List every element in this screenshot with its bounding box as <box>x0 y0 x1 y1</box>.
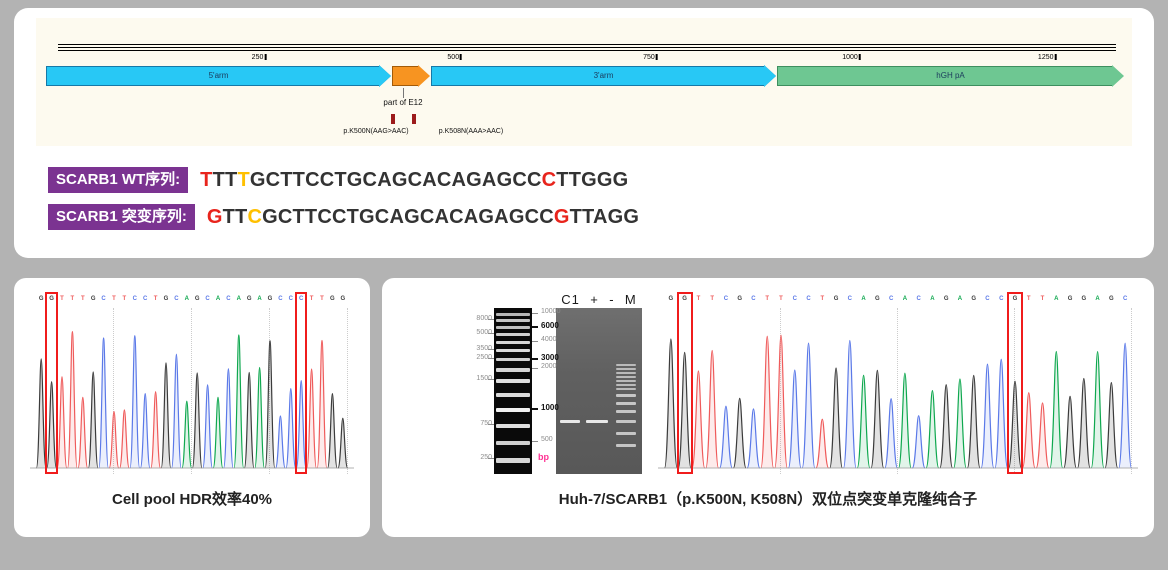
ladder-band <box>496 326 530 329</box>
callout-label-part-of-e12: part of E12 <box>383 98 422 107</box>
dna-ladder-image <box>494 308 532 474</box>
base-call-t: T <box>710 294 714 304</box>
base-call-c: C <box>889 294 893 304</box>
base-call-g: G <box>39 294 44 304</box>
chromatogram-peak-a <box>182 401 192 468</box>
base-call-t: T <box>1041 294 1045 304</box>
sequence-segment: TT <box>213 169 238 191</box>
ladder-tick <box>488 424 494 425</box>
chromatogram-peak-c <box>224 369 234 468</box>
chromatogram-peak-t <box>151 392 161 468</box>
ladder-size-label-right-2000: 2000 <box>541 363 557 370</box>
sequence-ruler: 25050075010001250 <box>58 44 1116 50</box>
chromatogram-traces <box>658 306 1138 472</box>
ladder-tick <box>532 341 538 342</box>
base-call-c: C <box>806 294 810 304</box>
ladder-band <box>496 349 530 353</box>
mutation-marker-k508n <box>412 114 416 124</box>
chromatogram-peak-c <box>203 385 213 468</box>
base-call-c: C <box>916 294 920 304</box>
sequence-text-mutant: GTTCGCTTCCTGCAGCACAGAGCCGTTAGG <box>207 206 639 229</box>
gel-lane-labels: C1+-M <box>556 292 642 307</box>
ruler-tick-label: 250 <box>252 54 264 61</box>
chromatogram-peak-a <box>899 373 912 468</box>
gel-lane-label-minus: - <box>609 292 614 307</box>
chromatogram-peak-t <box>120 410 130 468</box>
base-call-a: A <box>903 294 907 304</box>
base-call-t: T <box>1027 294 1031 304</box>
chromatogram-peak-g <box>665 339 678 468</box>
base-call-t: T <box>71 294 75 304</box>
chromatogram-peak-g <box>1077 378 1090 468</box>
base-call-g: G <box>1068 294 1073 304</box>
chromatogram-peak-g <box>967 375 980 468</box>
ruler-tick-label: 750 <box>643 54 655 61</box>
base-call-c: C <box>101 294 105 304</box>
chromatogram-peak-t <box>78 397 88 468</box>
chromatogram-peak-g <box>940 385 953 468</box>
chromatogram-peak-g <box>1064 396 1077 468</box>
chromatogram-peak-g <box>1105 383 1118 468</box>
ladder-band <box>496 424 530 428</box>
base-call-t: T <box>320 294 324 304</box>
gel-marker-band <box>616 420 636 423</box>
feature-arrow-hgh-pa: hGH pA <box>777 66 1124 86</box>
chromatogram-peak-a <box>213 397 223 468</box>
base-call-g: G <box>340 294 345 304</box>
base-call-t: T <box>765 294 769 304</box>
chromatogram-peak-c <box>885 399 898 468</box>
base-call-g: G <box>164 294 169 304</box>
chromatogram-peak-t <box>692 371 705 468</box>
ladder-band <box>496 313 530 316</box>
chromatogram-cell-pool: GGTTTGCTTCCTGCAGCACAGAGCCCTTGG <box>30 292 354 474</box>
base-call-t: T <box>60 294 64 304</box>
arrow-head <box>418 65 430 87</box>
base-call-g: G <box>834 294 839 304</box>
gel-marker-band <box>616 368 636 370</box>
base-call-c: C <box>143 294 147 304</box>
sequence-row-mutant: SCARB1 突变序列: GTTCGCTTCCTGCAGCACAGAGCCGTT… <box>48 203 639 231</box>
base-call-g: G <box>971 294 976 304</box>
clone-caption: Huh-7/SCARB1（p.K500N, K508N）双位点突变单克隆纯合子 <box>382 488 1154 509</box>
gel-marker-band <box>616 410 636 413</box>
ruler-line-mid <box>58 47 1116 48</box>
ladder-tick <box>488 333 494 334</box>
chromatogram-peak-c <box>912 416 925 468</box>
ruler-tick-750: 750 <box>643 54 658 61</box>
chromatogram-peak-c <box>172 354 182 468</box>
base-call-t: T <box>81 294 85 304</box>
mutation-highlight-box <box>45 292 57 474</box>
chromatogram-peak-g <box>733 398 746 468</box>
sequence-badge-mutant: SCARB1 突变序列: <box>48 204 195 230</box>
gel-marker-band <box>616 444 636 447</box>
chromatogram-peak-a <box>1050 351 1063 468</box>
chromatogram-peak-t <box>1022 393 1035 468</box>
ladder-size-label-right-1000: 1000 <box>541 403 559 412</box>
chromatogram-peak-a <box>926 391 939 468</box>
feature-label: 3'arm <box>431 66 776 86</box>
chromatogram-peak-g <box>244 373 254 468</box>
base-call-c: C <box>999 294 1003 304</box>
gel-electrophoresis: C1+-M bp 8000500035002500150075025010000… <box>460 292 642 474</box>
ladder-band <box>496 319 530 322</box>
chromatogram-peak-c <box>140 394 150 468</box>
base-call-c: C <box>848 294 852 304</box>
feature-arrows: 5'arm 3'arm hGH pA <box>46 66 1124 86</box>
sequence-segment: G <box>554 206 570 228</box>
gel-lane-label-plus: + <box>590 292 599 307</box>
base-call-g: G <box>195 294 200 304</box>
chromatogram-clone: GGTTCGCTTCCTGCAGCACAGAGCCGTTAGGAGC <box>658 292 1138 474</box>
chromatogram-peak-c <box>747 409 760 468</box>
base-call-c: C <box>751 294 755 304</box>
construct-diagram-panel: 25050075010001250 5'arm 3'arm <box>36 18 1132 146</box>
base-call-a: A <box>1095 294 1099 304</box>
ladder-tick <box>488 349 494 350</box>
sequence-row-wt: SCARB1 WT序列: TTTTGCTTCCTGCAGCACAGAGCCCTT… <box>48 166 628 194</box>
chromatogram-peak-a <box>954 379 967 468</box>
base-call-a: A <box>1054 294 1058 304</box>
ladder-band <box>496 341 530 344</box>
chromatogram-peak-g <box>328 394 338 468</box>
base-call-a: A <box>861 294 865 304</box>
base-call-c: C <box>226 294 230 304</box>
base-call-g: G <box>944 294 949 304</box>
ruler-tick-mark <box>1055 54 1057 60</box>
gel-marker-band <box>616 402 636 405</box>
sequence-segment: GCTTCCTGCAGCACAGAGCC <box>262 206 554 228</box>
gel-marker-band <box>616 372 636 374</box>
chromatogram-peak-c <box>995 359 1008 468</box>
ladder-tick <box>532 368 538 369</box>
gel-marker-band <box>616 384 636 386</box>
chromatogram-peak-t <box>1036 403 1049 468</box>
chromatogram-peak-c <box>99 338 109 468</box>
chromatogram-peak-c <box>276 416 286 468</box>
ladder-tick <box>488 319 494 320</box>
ladder-size-label-right-6000: 6000 <box>541 321 559 330</box>
chromatogram-peak-t <box>317 340 327 468</box>
ruler-tick-1250: 1250 <box>1038 54 1057 61</box>
ladder-size-label-right-3000: 3000 <box>541 353 559 362</box>
ladder-band <box>496 333 530 336</box>
gel-lane-label-M: M <box>625 292 637 307</box>
cell-pool-card: GGTTTGCTTCCTGCAGCACAGAGCCCTTGG Cell pool… <box>14 278 370 537</box>
ladder-band <box>496 408 530 413</box>
chromatogram-peak-t <box>68 332 78 468</box>
ruler-tick-mark <box>656 54 658 60</box>
base-call-t: T <box>123 294 127 304</box>
sequence-text-wt: TTTTGCTTCCTGCAGCACAGAGCCCTTGGG <box>200 169 628 192</box>
gel-marker-band <box>616 364 636 366</box>
mutation-label-k508n: p.K508N(AAA>AAC) <box>439 128 503 135</box>
chromatogram-peak-c <box>720 406 733 468</box>
sequence-segment: T <box>237 169 249 191</box>
chromatogram-peak-a <box>857 375 870 468</box>
ruler-tick-1000: 1000 <box>842 54 861 61</box>
chromatogram-peak-t <box>57 377 67 468</box>
sequence-segment: C <box>247 206 262 228</box>
base-call-t: T <box>112 294 116 304</box>
base-call-g: G <box>91 294 96 304</box>
feature-label: hGH pA <box>777 66 1124 86</box>
cell-pool-caption: Cell pool HDR效率40% <box>14 488 370 509</box>
base-call-a: A <box>185 294 189 304</box>
ruler-tick-label: 1000 <box>842 54 858 61</box>
sequence-segment: G <box>207 206 223 228</box>
clone-card: C1+-M bp 8000500035002500150075025010000… <box>382 278 1154 537</box>
ladder-band <box>496 393 530 397</box>
gel-marker-band <box>616 376 636 378</box>
sequence-badge-wt: SCARB1 WT序列: <box>48 167 188 193</box>
base-call-c: C <box>205 294 209 304</box>
ruler-line-bottom <box>58 50 1116 51</box>
chromatogram-peak-g <box>871 370 884 468</box>
gel-product-band <box>560 420 580 423</box>
base-call-t: T <box>820 294 824 304</box>
mutation-label-k500n: p.K500N(AAG>AAC) <box>343 128 408 135</box>
ladder-band <box>496 368 530 372</box>
chromatogram-peak-c <box>981 364 994 468</box>
chromatogram-peak-t <box>775 335 788 468</box>
ladder-tick <box>488 379 494 380</box>
base-call-c: C <box>1123 294 1127 304</box>
base-call-c: C <box>793 294 797 304</box>
gel-marker-band <box>616 432 636 435</box>
sequence-segment: T <box>200 169 212 191</box>
base-call-c: C <box>133 294 137 304</box>
chromatogram-peak-g <box>192 373 202 468</box>
figure-page: 25050075010001250 5'arm 3'arm <box>0 0 1168 570</box>
ruler-tick-mark <box>264 54 266 60</box>
base-call-c: C <box>985 294 989 304</box>
ruler-tick-500: 500 <box>447 54 462 61</box>
ladder-tick <box>488 358 494 359</box>
base-call-t: T <box>779 294 783 304</box>
base-call-g: G <box>737 294 742 304</box>
ladder-tick <box>532 313 538 314</box>
ruler-tick-label: 1250 <box>1038 54 1054 61</box>
chromatogram-peak-c <box>843 340 856 468</box>
base-call-g: G <box>268 294 273 304</box>
chromatogram-peak-g <box>265 341 275 468</box>
bp-unit-label: bp <box>538 452 549 462</box>
ladder-size-label-right-10000: 10000 <box>541 308 560 315</box>
feature-arrow-e12 <box>392 66 430 86</box>
base-call-a: A <box>216 294 220 304</box>
feature-arrow-5arm: 5'arm <box>46 66 391 86</box>
base-call-t: T <box>154 294 158 304</box>
sequence-segment: TTAGG <box>570 206 640 228</box>
ladder-tick <box>488 458 494 459</box>
ladder-tick <box>532 408 538 410</box>
sequence-segment: C <box>542 169 557 191</box>
chromatogram-peak-t <box>307 369 317 468</box>
chromatogram-peak-g <box>830 368 843 468</box>
top-card: 25050075010001250 5'arm 3'arm <box>14 8 1154 258</box>
chromatogram-peak-g <box>338 418 348 468</box>
ladder-band <box>496 441 530 445</box>
chromatogram-peak-t <box>761 336 774 468</box>
sequence-segment: TTGGG <box>556 169 628 191</box>
chromatogram-peak-c <box>788 370 801 468</box>
base-call-a: A <box>958 294 962 304</box>
ruler-tick-mark <box>460 54 462 60</box>
ladder-tick <box>532 441 538 442</box>
ruler-line-top <box>58 44 1116 45</box>
mutation-highlight-box <box>1007 292 1023 474</box>
chromatogram-peak-c <box>130 336 140 468</box>
chromatogram-peak-a <box>234 335 244 468</box>
mutation-highlight-box <box>677 292 693 474</box>
chromatogram-peak-t <box>109 411 119 468</box>
gel-product-band <box>586 420 608 423</box>
ladder-size-label-right-500: 500 <box>541 436 553 443</box>
ladder-tick <box>532 358 538 360</box>
gel-marker-band <box>616 388 636 390</box>
chromatogram-peak-t <box>816 419 829 468</box>
ladder-band <box>496 358 530 362</box>
mutation-marker-k500n <box>391 114 395 124</box>
base-call-c: C <box>724 294 728 304</box>
callout-leader-line <box>403 88 404 98</box>
base-call-g: G <box>247 294 252 304</box>
base-call-c: C <box>174 294 178 304</box>
chromatogram-peak-g <box>88 372 98 468</box>
base-call-g: G <box>1081 294 1086 304</box>
base-call-c: C <box>278 294 282 304</box>
base-call-a: A <box>237 294 241 304</box>
base-call-t: T <box>310 294 314 304</box>
gel-lane-label-C1: C1 <box>561 292 580 307</box>
ladder-size-label-right-4000: 4000 <box>541 336 557 343</box>
ladder-band <box>496 379 530 383</box>
sequence-segment: GCTTCCTGCAGCACAGAGCC <box>250 169 542 191</box>
gel-marker-band <box>616 380 636 382</box>
chromatogram-peak-a <box>255 367 265 468</box>
chromatogram-peak-t <box>706 350 719 468</box>
ruler-tick-250: 250 <box>252 54 267 61</box>
base-call-g: G <box>330 294 335 304</box>
base-call-c: C <box>289 294 293 304</box>
feature-label: 5'arm <box>46 66 391 86</box>
base-call-g: G <box>1109 294 1114 304</box>
gel-marker-band <box>616 394 636 397</box>
ladder-band <box>496 458 530 462</box>
arrow-body <box>392 66 419 86</box>
mutation-highlight-box <box>295 292 307 474</box>
chromatogram-peak-a <box>1091 352 1104 468</box>
base-call-g: G <box>669 294 674 304</box>
chromatogram-peak-c <box>1119 343 1132 468</box>
chromatogram-peak-g <box>161 363 171 468</box>
base-call-g: G <box>875 294 880 304</box>
base-call-t: T <box>697 294 701 304</box>
ruler-tick-mark <box>859 54 861 60</box>
sequence-segment: TT <box>223 206 248 228</box>
ladder-tick <box>532 326 538 328</box>
base-call-a: A <box>930 294 934 304</box>
ruler-tick-label: 500 <box>447 54 459 61</box>
base-call-a: A <box>257 294 261 304</box>
gel-image <box>556 308 642 474</box>
chromatogram-peak-c <box>802 343 815 468</box>
feature-arrow-3arm: 3'arm <box>431 66 776 86</box>
